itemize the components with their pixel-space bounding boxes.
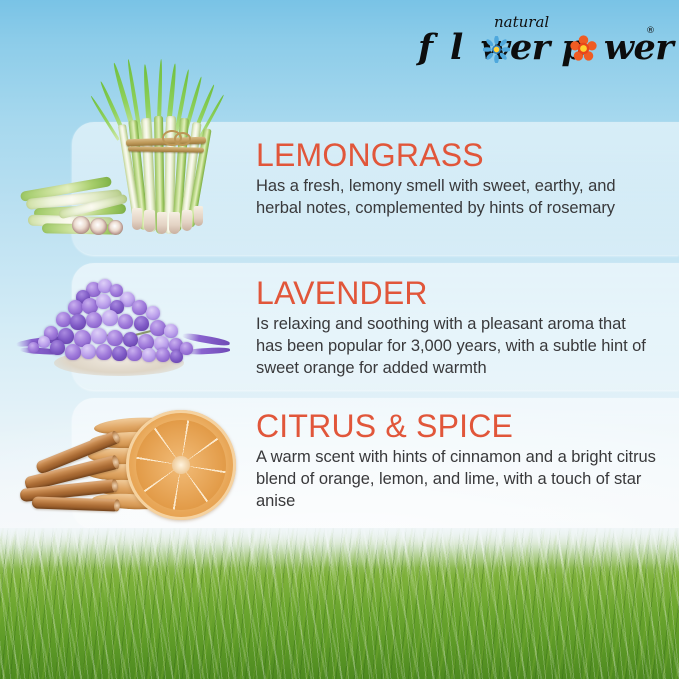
scent-text-lavender: LAVENDER Is relaxing and soothing with a… [256, 275, 656, 379]
brand-logo: natural flwer pwer ® [418, 14, 668, 70]
scent-description-citrus-spice: A warm scent with hints of cinnamon and … [256, 446, 656, 512]
orange-flower-icon [570, 35, 597, 62]
scent-title-citrus-spice: CITRUS & SPICE [256, 408, 656, 444]
scent-description-lavender: Is relaxing and soothing with a pleasant… [256, 313, 656, 379]
scent-text-lemongrass: LEMONGRASS Has a fresh, lemony smell wit… [256, 137, 656, 219]
logo-wordmark: flwer pwer [418, 27, 673, 68]
scent-text-citrus-spice: CITRUS & SPICE A warm scent with hints o… [256, 408, 656, 512]
logo-word-flower-head: fl [418, 27, 480, 68]
scent-title-lemongrass: LEMONGRASS [256, 137, 656, 173]
grass-horizon-fade [0, 528, 679, 568]
product-scent-infographic: natural flwer pwer ® [0, 0, 679, 679]
registered-trademark-symbol: ® [646, 26, 655, 36]
scent-description-lemongrass: Has a fresh, lemony smell with sweet, ea… [256, 175, 656, 219]
scent-title-lavender: LAVENDER [256, 275, 656, 311]
logo-word-power-tail: wer [604, 27, 673, 68]
blue-daisy-flower-icon [483, 36, 510, 63]
green-grass-field-photo [0, 528, 679, 679]
